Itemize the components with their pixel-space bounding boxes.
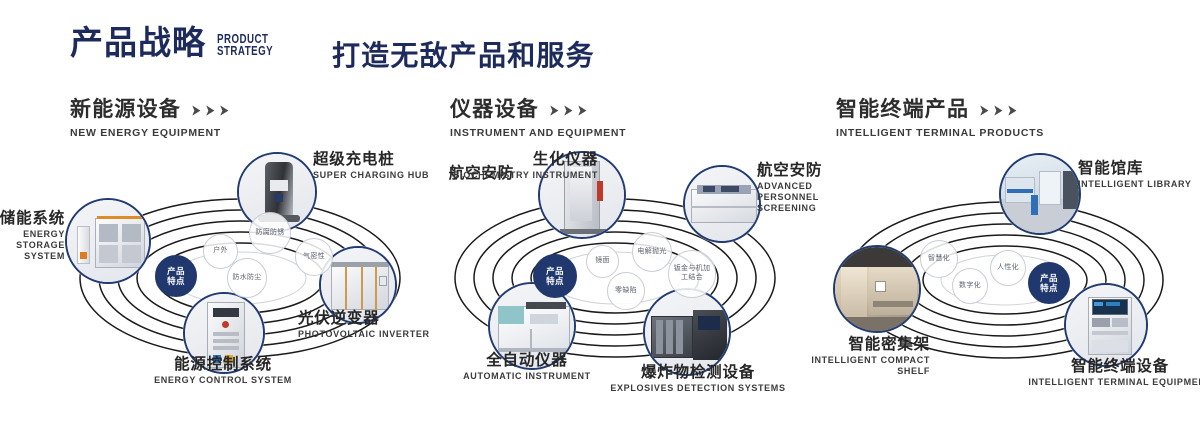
analyzer-bar-shape [526,302,566,309]
node-intelligent-compact-shelf[interactable] [833,245,921,333]
node-energy-storage-system[interactable] [65,198,151,284]
kiosk-screen-ui-shape [1106,302,1120,306]
label-en: ENERGY STORAGE SYSTEM [0,229,65,261]
core-bubble-product-features: 产品 特点 [1028,262,1070,304]
label-biochemistry-instrument: 生化仪器 BIOCHEMISTRY INSTRUMENT [440,151,598,181]
section-label-text: 仪器设备 [450,98,539,122]
section-label-text: 新能源设备 [70,98,181,122]
cabinet-panel-shape [99,245,118,263]
feature-bubble-airtight: 气密性 [295,238,333,276]
shelf-floor-shape [835,317,921,333]
kiosk-screen-ui-shape [1094,302,1103,306]
charging-pile-port-shape [274,194,283,202]
node-explosives-detection[interactable] [643,288,731,376]
feature-bubble-electropolishing: 电解抛光 [632,232,672,272]
control-display-shape [213,308,239,317]
library-wall-shape [1039,171,1061,205]
label-en: INTELLIGENT TERMINAL EQUIPMENT [1005,377,1200,388]
product-strategy-infographic: 产品战略 PRODUCT STRATEGY 打造无敌产品和服务 新能源设备 ➤➤… [0,0,1200,422]
label-en: BIOCHEMISTRY INSTRUMENT [440,170,598,181]
cluster-new-energy-equipment: 储能系统 ENERGY STORAGE SYSTEM 超级充电桩 SUPER C… [55,150,425,400]
core-line2: 特点 [1040,283,1058,293]
control-slot-shape [213,346,239,350]
node-intelligent-library[interactable] [999,153,1081,235]
security-gate-light-shape [597,181,603,201]
label-cn: 智能馆库 [1078,160,1200,177]
label-intelligent-compact-shelf: 智能密集架 INTELLIGENT COMPACT SHELF [758,336,930,377]
section-title-intelligent-en: INTELLIGENT TERMINAL PRODUCTS [836,127,1044,139]
shelf-label-strip-shape [873,301,913,307]
label-intelligent-terminal-equipment: 智能终端设备 INTELLIGENT TERMINAL EQUIPMENT [1005,358,1200,388]
core-bubble-product-features: 产品 特点 [155,255,197,297]
cabinet-panel-shape [122,245,141,263]
detection-panel-shape [676,320,683,354]
label-cn: 储能系统 [0,210,65,227]
chevron-triple-icon: ➤➤➤ [978,103,1019,117]
page-title-en-line2: STRATEGY [217,45,273,58]
feature-bubble-anticorrosion: 防腐防锈 [249,212,291,254]
shelf-ceiling-shape [835,247,921,267]
kiosk-keypad-shape [1092,318,1110,327]
core-line1: 产品 [546,266,564,276]
chevron-triple-icon: ➤➤➤ [548,103,589,117]
detection-panel-shape [666,320,673,354]
inverter-divider-shape [361,266,363,310]
label-energy-control-system: 能源控制系统 ENERGY CONTROL SYSTEM [83,356,363,386]
section-title-intelligent-cn: 智能终端产品 ➤➤➤ [836,98,1044,122]
section-title-instrument-en: INSTRUMENT AND EQUIPMENT [450,127,626,139]
screening-display-shape [721,186,739,192]
inverter-divider-shape [375,266,377,310]
node-intelligent-terminal-equipment[interactable] [1064,283,1148,367]
node-advanced-personnel-screening[interactable] [683,165,761,243]
inverter-label-shape [379,276,387,286]
section-title-intelligent: 智能终端产品 ➤➤➤ INTELLIGENT TERMINAL PRODUCTS [836,98,1044,139]
page-title-en-line1: PRODUCT [217,33,273,46]
page-title-cn: 产品战略 [70,26,206,59]
feature-bubble-waterproof: 防水防尘 [227,258,267,298]
section-title-instrument-cn: 仪器设备 ➤➤➤ [450,98,626,122]
chevron-triple-icon: ➤➤➤ [190,103,231,117]
analyzer-door-seam-shape [530,329,532,349]
feature-bubble-zero-defect: 零缺陷 [607,272,645,310]
section-title-new-energy-cn: 新能源设备 ➤➤➤ [70,98,231,122]
kiosk-panel-shape [1092,340,1128,352]
control-button-shape [222,321,229,328]
label-en: INTELLIGENT COMPACT SHELF [790,355,930,376]
cabinet-trim-shape [97,216,147,219]
section-title-new-energy-en: NEW ENERGY EQUIPMENT [70,127,231,139]
detection-panel-shape [656,320,663,354]
section-title-new-energy: 新能源设备 ➤➤➤ NEW ENERGY EQUIPMENT [70,98,231,139]
charging-pile-screen-shape [270,180,288,191]
core-line1: 产品 [1040,273,1058,283]
page-title-en: PRODUCT STRATEGY [217,33,273,59]
section-title-instrument: 仪器设备 ➤➤➤ INSTRUMENT AND EQUIPMENT [450,98,626,139]
label-cn: 智能终端设备 [1005,358,1200,375]
page-subtitle: 打造无敌产品和服务 [332,34,595,74]
label-energy-storage-system: 储能系统 ENERGY STORAGE SYSTEM [0,210,65,261]
label-en: EXPLOSIVES DETECTION SYSTEMS [598,383,798,394]
feature-bubble-humanized: 人性化 [990,250,1026,286]
security-gate-base-shape [560,229,606,234]
label-cn: 能源控制系统 [83,356,363,373]
core-bubble-product-features: 产品 特点 [533,254,577,298]
inverter-cabinet-shape [331,266,389,310]
analyzer-panel-shape [530,314,558,324]
label-cn: 生化仪器 [440,151,598,168]
charger-indicator-shape [80,252,87,259]
feature-bubble-intelligent: 智慧化 [920,240,958,278]
screening-display-shape [703,186,715,192]
cabinet-panel-shape [122,224,141,242]
label-cn: 光伏逆变器 [298,310,448,327]
kiosk-tray-shape [1112,318,1128,327]
label-photovoltaic-inverter: 光伏逆变器 PHOTOVOLTAIC INVERTER [298,310,448,340]
detection-screen-shape [698,316,720,330]
core-line2: 特点 [167,276,185,286]
library-shelf-band-shape [1007,189,1033,193]
cluster-intelligent-terminal-products: 智能馆库 INTELLIGENT LIBRARY 智能密集架 INTELLIGE… [820,150,1190,400]
cabinet-panel-shape [99,224,118,242]
label-intelligent-library: 智能馆库 INTELLIGENT LIBRARY [1078,160,1200,190]
inverter-divider-shape [345,266,347,310]
cluster-instrument-and-equipment: 航空安防 生化仪器 BIOCHEMISTRY INSTRUMENT 航空安防 A… [430,150,800,400]
core-line2: 特点 [546,276,564,286]
label-en: INTELLIGENT LIBRARY [1078,179,1200,190]
kiosk-slot-shape [1092,331,1128,335]
feature-bubble-mirror: 镜面 [586,245,619,278]
shelf-unit-shape [841,267,867,319]
shelf-handle-shape [875,281,886,292]
core-line1: 产品 [167,266,185,276]
section-label-text: 智能终端产品 [836,98,969,122]
page-title: 产品战略 PRODUCT STRATEGY [70,26,289,59]
control-slot-shape [213,332,239,336]
inverter-top-shape [331,262,389,267]
feature-bubble-digital: 数字化 [952,268,988,304]
analyzer-module-shape [498,306,524,324]
label-en: ENERGY CONTROL SYSTEM [83,375,363,386]
feature-bubble-sheetmetal-machining: 钣金与机加工结合 [668,250,716,298]
label-en: PHOTOVOLTAIC INVERTER [298,329,448,340]
screening-seam-shape [691,206,757,208]
library-person-shape [1031,195,1038,215]
label-cn: 智能密集架 [758,336,930,353]
control-slot-shape [213,339,239,343]
